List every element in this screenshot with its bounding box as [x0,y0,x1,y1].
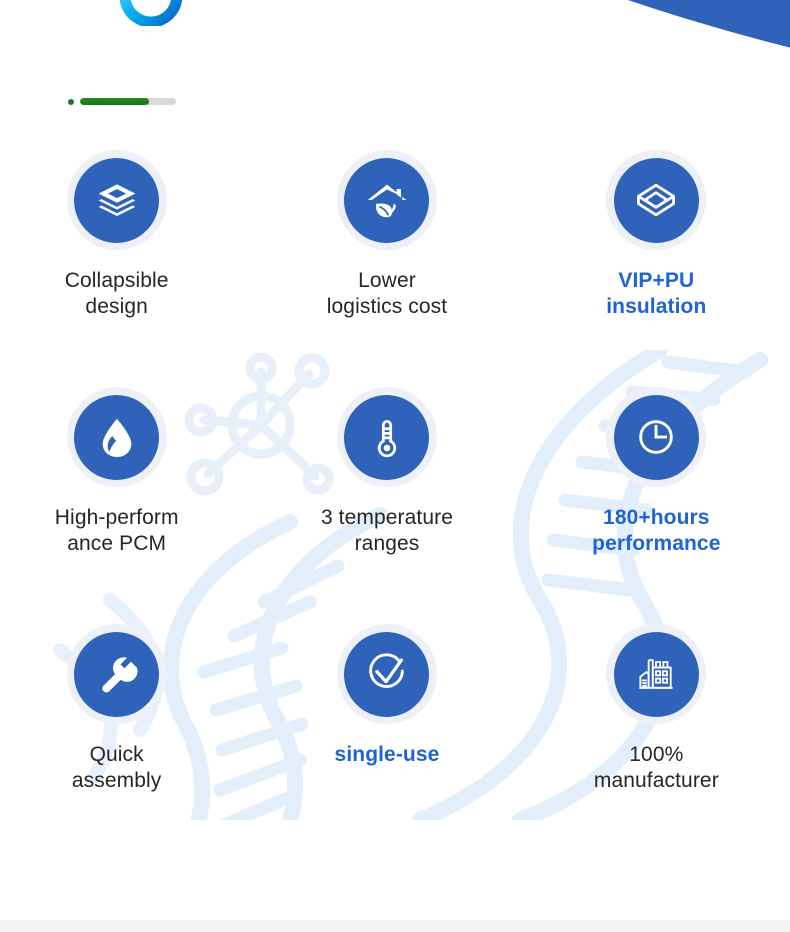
feature-item-high-performance-pcm[interactable]: High-perform ance PCM [0,387,263,616]
icon-ring [337,150,437,250]
progress-dot-icon [68,99,74,105]
progress-track[interactable] [80,98,176,105]
water-drop-icon [74,395,159,480]
feature-label: VIP+PU insulation [606,268,706,320]
feature-label: 3 temperature ranges [321,505,453,557]
feature-item-lower-logistics-cost[interactable]: Lower logistics cost [263,150,526,379]
progress-fill [80,98,149,105]
wrench-icon [74,632,159,717]
product-feature-page: Collapsible design Lower logistics cost [0,0,790,932]
icon-ring [337,387,437,487]
icon-ring [67,150,167,250]
feature-item-100-percent-manufacturer[interactable]: 100% manufacturer [527,624,790,853]
feature-label: 180+hours performance [592,505,720,557]
feature-label: 100% manufacturer [594,742,719,794]
layers-icon [74,158,159,243]
icon-ring [337,624,437,724]
feature-item-quick-assembly[interactable]: Quick assembly [0,624,263,853]
feature-item-180-hours-performance[interactable]: 180+hours performance [527,387,790,616]
icon-ring [606,624,706,724]
feature-item-collapsible-design[interactable]: Collapsible design [0,150,263,379]
feature-label: single-use [335,742,440,768]
feature-label: High-perform ance PCM [55,505,179,557]
feature-label: Quick assembly [72,742,162,794]
brand-logo-mark [108,0,194,26]
top-blue-swoosh [250,0,790,100]
insulation-box-icon [614,158,699,243]
feature-item-temperature-ranges[interactable]: 3 temperature ranges [263,387,526,616]
icon-ring [606,387,706,487]
clock-icon [614,395,699,480]
feature-item-vip-pu-insulation[interactable]: VIP+PU insulation [527,150,790,379]
progress-indicator[interactable] [68,98,176,105]
icon-ring [67,624,167,724]
thermometer-icon [344,395,429,480]
footer-band [0,920,790,932]
icon-ring [606,150,706,250]
factory-icon [614,632,699,717]
feature-label: Lower logistics cost [327,268,447,320]
feature-label: Collapsible design [65,268,169,320]
check-circle-icon [344,632,429,717]
icon-ring [67,387,167,487]
eco-home-leaf-icon [344,158,429,243]
feature-grid: Collapsible design Lower logistics cost [0,150,790,853]
feature-item-single-use[interactable]: single-use [263,624,526,853]
